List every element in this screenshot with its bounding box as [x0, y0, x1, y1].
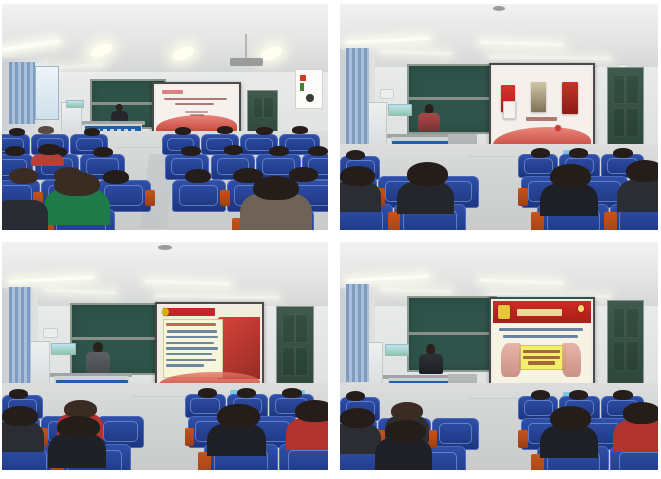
seat: [172, 180, 226, 212]
photo-bottom-left: [2, 242, 328, 470]
collage-cell-top-right: [331, 0, 661, 234]
audience-head: [531, 390, 550, 400]
audience-head: [391, 402, 423, 420]
slide-heading-line: [166, 323, 216, 326]
door: [607, 300, 644, 394]
door-panel: [263, 97, 273, 119]
blackboard-divider: [409, 97, 495, 100]
wall-poster: [295, 69, 323, 109]
audience-torso: [2, 200, 48, 230]
slide-content: [159, 306, 259, 387]
audience-torso: [617, 180, 658, 212]
blackboard-divider: [409, 332, 495, 335]
door-panel: [613, 108, 625, 137]
audience-head: [57, 416, 99, 438]
audience-head: [84, 128, 100, 136]
audience-head: [93, 147, 113, 157]
audience-head: [623, 402, 658, 424]
audience-head: [550, 164, 591, 188]
door-panel: [626, 308, 638, 338]
window-curtain: [346, 48, 368, 144]
seat-armrest: [185, 428, 195, 446]
audience-torso: [48, 434, 107, 468]
ceiling-camera: [158, 245, 171, 250]
audience-head: [38, 126, 54, 134]
audience-head: [569, 148, 588, 158]
door-panel: [626, 75, 638, 104]
audience-torso: [340, 182, 381, 212]
audience-head: [217, 126, 233, 134]
seat-armrest: [388, 212, 401, 230]
audience-head: [569, 390, 588, 400]
audience-torso: [540, 426, 597, 458]
projection-screen: [489, 63, 595, 152]
wall-sign: [66, 100, 84, 108]
window-curtain: [9, 287, 32, 383]
photo-top-left: [2, 4, 328, 230]
window-curtain: [346, 284, 368, 382]
photo-bottom-right: [340, 242, 658, 470]
seat-armrest: [220, 190, 230, 206]
audience-head: [103, 170, 129, 184]
audience-head: [198, 388, 218, 398]
presenter-body: [418, 113, 439, 131]
audience-head: [217, 404, 259, 428]
audience-head: [181, 146, 201, 156]
audience-torso: [375, 438, 432, 470]
window-curtain: [9, 62, 35, 124]
audience-head: [550, 406, 591, 430]
audience-head: [9, 389, 29, 399]
audience-head: [308, 146, 328, 156]
poster-graphic: [300, 83, 304, 91]
wall-sign: [385, 344, 409, 356]
audience-torso: [207, 424, 266, 456]
audience-head: [185, 169, 211, 183]
audience-torso: [286, 418, 328, 450]
slide-text-line: [499, 328, 583, 331]
audience-torso: [613, 420, 658, 452]
audience-head: [54, 172, 100, 196]
presenter-body: [419, 354, 443, 374]
window: [35, 66, 60, 120]
audience-head: [613, 390, 632, 400]
slide-accent-bar: [162, 90, 183, 95]
audience-head: [346, 391, 365, 401]
slide-subtitle-text: [175, 103, 214, 105]
slide-title-bar: [163, 308, 215, 315]
projection-screen: [489, 297, 595, 389]
door-panel: [295, 347, 308, 376]
slide-book-cover: [503, 101, 516, 119]
audience-torso: [397, 182, 454, 214]
slide-text-line: [166, 364, 204, 366]
collage-cell-bottom-left: [0, 234, 331, 479]
slide-emblem: [555, 125, 561, 131]
slide-text-line: [166, 342, 214, 344]
slide-byline-text: [190, 114, 205, 116]
photo-collage: [0, 0, 661, 479]
door-panel: [613, 75, 625, 104]
door-panel: [626, 108, 638, 137]
seat-armrest: [604, 212, 617, 230]
audience-head: [295, 400, 328, 422]
party-emblem-icon: [498, 305, 510, 319]
audience-head: [340, 166, 375, 186]
photo-top-right: [340, 4, 658, 230]
slide-caption-text: [526, 117, 557, 121]
door-panel: [626, 341, 638, 371]
audience-head: [626, 160, 658, 182]
seat-armrest: [145, 190, 155, 206]
door-panel: [282, 314, 295, 343]
slide-book-cover: [531, 82, 547, 113]
door-panel: [282, 347, 295, 376]
slide-book-cover: [562, 82, 578, 114]
slide-text-line: [166, 359, 216, 361]
audience-head: [9, 168, 38, 184]
projection-screen: [155, 302, 263, 391]
audience-head: [346, 150, 365, 160]
slide-note-line: [523, 350, 560, 353]
audience-head: [531, 148, 550, 158]
door-panel: [613, 308, 625, 338]
classroom-scene: [2, 242, 328, 470]
audience-head: [175, 127, 191, 135]
audience-head: [256, 127, 272, 135]
audience-head: [282, 388, 302, 398]
slide-content: [493, 301, 591, 385]
audience-head: [224, 145, 244, 155]
audience-head: [292, 126, 308, 134]
projector: [230, 58, 263, 66]
presenter-head: [93, 342, 103, 353]
wall-sign: [51, 343, 76, 355]
classroom-scene: [340, 4, 658, 230]
slide-title-text: [517, 309, 562, 316]
audience-head: [340, 408, 375, 428]
collage-cell-bottom-right: [331, 234, 661, 479]
slide-text-line: [167, 330, 217, 332]
collage-cell-top-left: [0, 0, 331, 234]
audience-head: [2, 406, 38, 426]
door-panel: [613, 341, 625, 371]
door-panel: [295, 314, 308, 343]
audience-head: [613, 148, 632, 158]
audience-head: [5, 146, 25, 156]
audience-head: [253, 176, 299, 200]
slide-flag-graphic: [217, 317, 259, 379]
classroom-scene: [340, 242, 658, 470]
slide-text-line: [166, 347, 218, 349]
slide-emblem: [162, 308, 169, 316]
seat-armrest: [518, 188, 528, 206]
slide-hands-graphic: [562, 343, 582, 377]
ceiling: [340, 4, 658, 72]
audience-torso: [540, 184, 597, 216]
wall-unit: [380, 89, 395, 99]
slide-byline-text: [185, 111, 208, 113]
classroom-scene: [2, 4, 328, 230]
audience-head: [237, 388, 257, 398]
blackboard-divider: [72, 337, 160, 340]
audience-torso: [2, 422, 44, 452]
wall-unit: [43, 328, 58, 338]
slide-note-line: [523, 356, 560, 359]
slide-note-line: [528, 361, 555, 364]
seat-armrest: [518, 430, 528, 448]
audience-head: [9, 128, 25, 136]
ceiling: [2, 242, 328, 310]
poster-graphic: [300, 75, 306, 81]
slide-content: [156, 86, 237, 131]
wall-sign: [388, 104, 412, 116]
audience-head: [269, 146, 289, 156]
poster-graphic: [306, 94, 314, 102]
projector-mount: [245, 34, 247, 59]
slide-title-text: [164, 98, 227, 101]
audience-torso: [31, 154, 64, 166]
audience-head: [385, 420, 426, 442]
audience-head: [407, 162, 448, 186]
slide-text-line: [503, 335, 577, 338]
slide-content: [493, 67, 591, 148]
audience-head: [38, 144, 61, 155]
door-panel: [253, 97, 263, 119]
slide-hands-graphic: [501, 343, 521, 377]
